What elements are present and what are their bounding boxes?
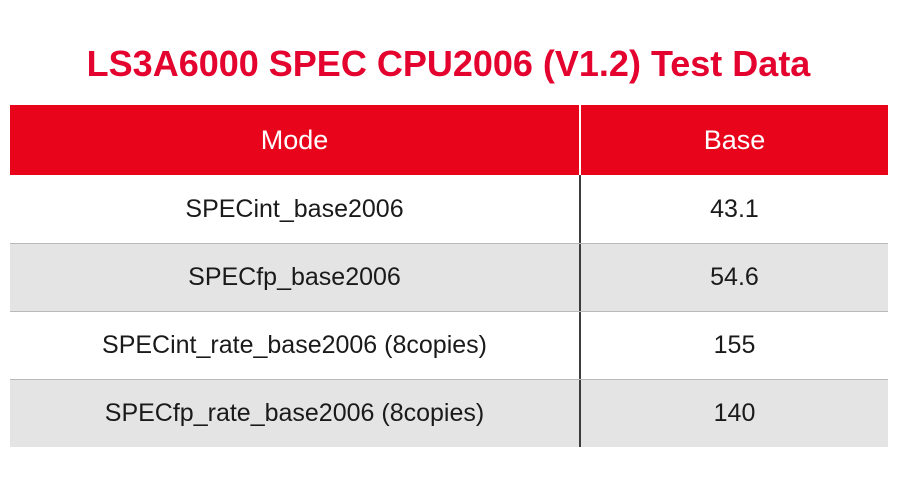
cell-mode: SPECint_base2006 [10,175,581,243]
cell-base: 54.6 [581,244,888,311]
page-title: LS3A6000 SPEC CPU2006 (V1.2) Test Data [0,41,897,87]
cell-base: 43.1 [581,175,888,243]
spec-results-table: Mode Base SPECint_base2006 43.1 SPECfp_b… [10,105,888,445]
table-row: SPECfp_rate_base2006 (8copies) 140 [10,379,888,447]
table-row: SPECfp_base2006 54.6 [10,243,888,311]
cell-base: 140 [581,380,888,447]
cell-mode: SPECfp_base2006 [10,244,581,311]
table-row: SPECint_rate_base2006 (8copies) 155 [10,311,888,379]
page-root: LS3A6000 SPEC CPU2006 (V1.2) Test Data M… [0,0,897,499]
table-row: SPECint_base2006 43.1 [10,175,888,243]
cell-mode: SPECint_rate_base2006 (8copies) [10,312,581,379]
table-header-row: Mode Base [10,105,888,175]
cell-base: 155 [581,312,888,379]
column-header-mode: Mode [10,105,581,175]
cell-mode: SPECfp_rate_base2006 (8copies) [10,380,581,447]
column-header-base: Base [581,105,888,175]
